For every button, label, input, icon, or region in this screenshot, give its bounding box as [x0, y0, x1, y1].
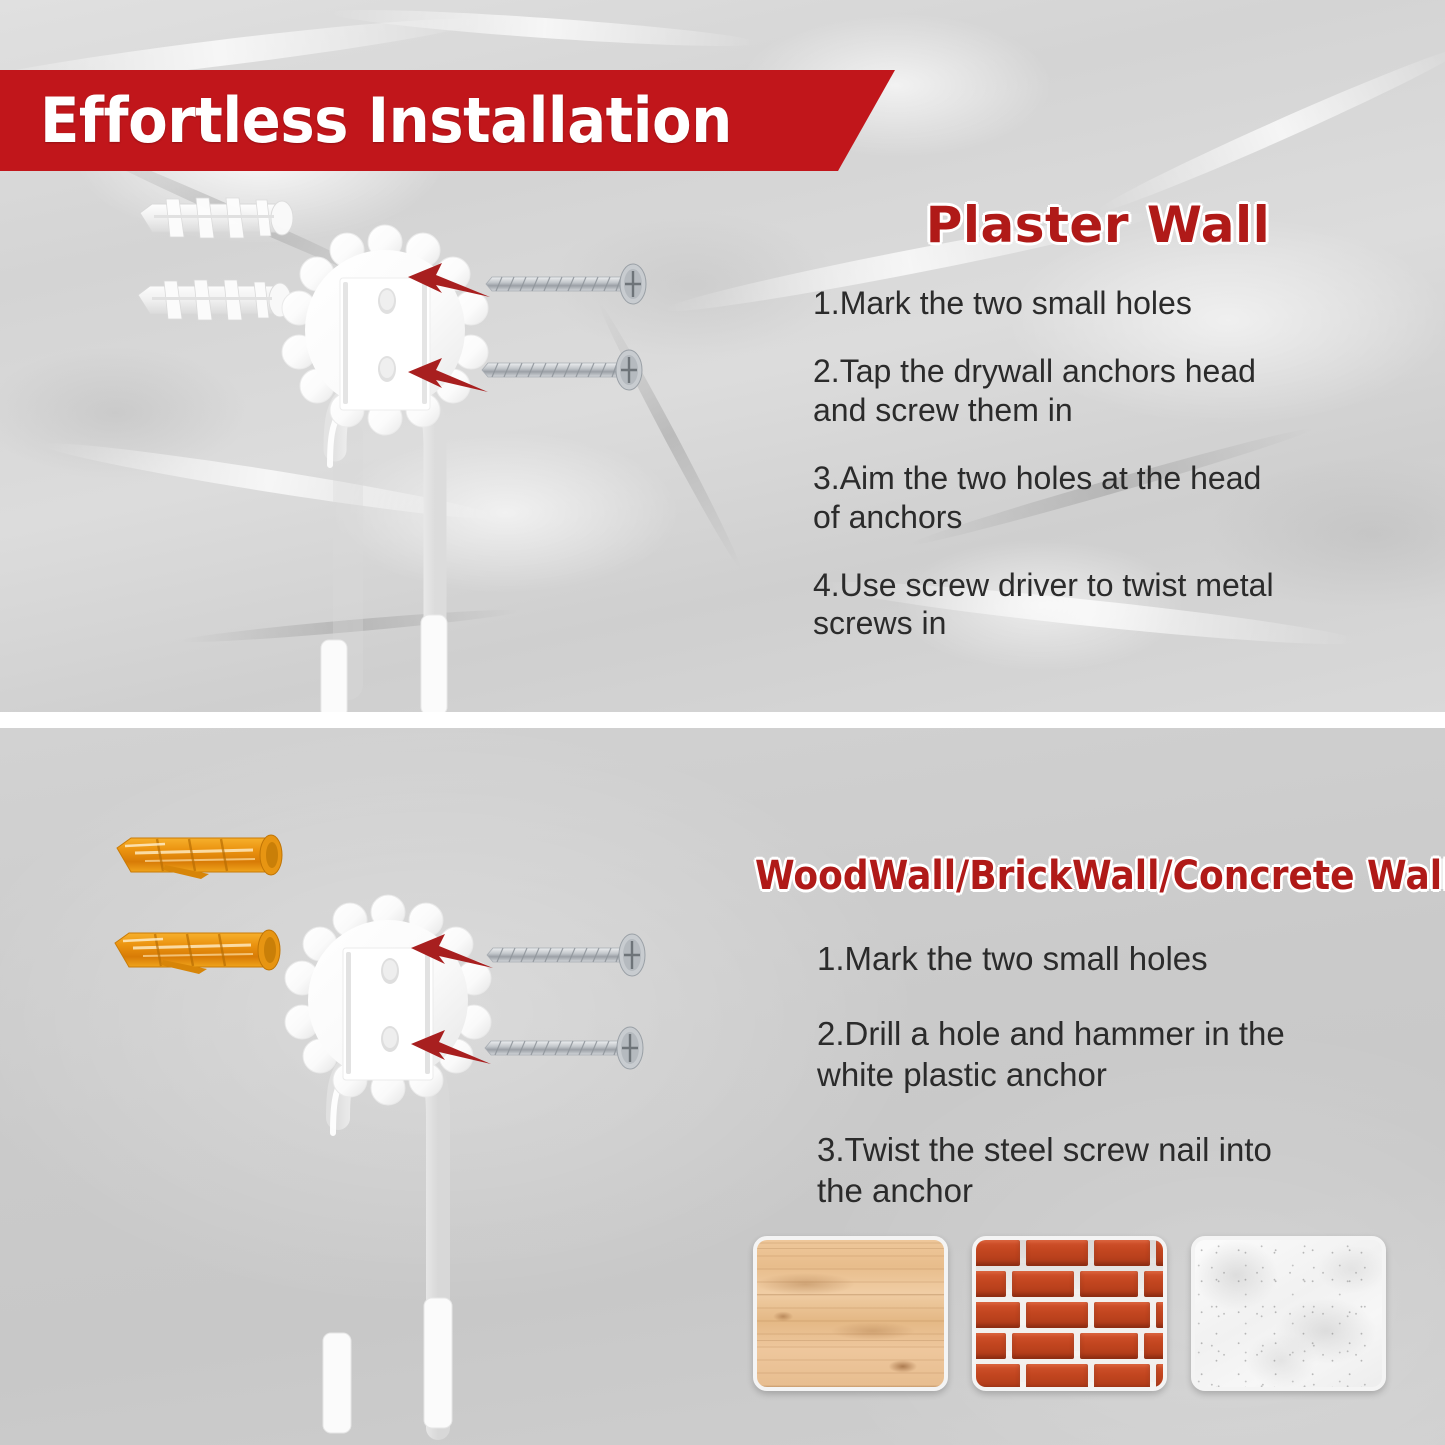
banner-title: Effortless Installation	[40, 84, 732, 157]
plaster-wall-heading: Plaster Wall	[813, 196, 1423, 254]
masonry-step-1: 1.Mark the two small holes	[817, 939, 1415, 980]
masonry-wall-heading: WoodWall/BrickWall/Concrete Wall	[755, 853, 1349, 899]
masonry-step-3-line1: 3.Twist the steel screw nail into	[817, 1130, 1415, 1171]
plaster-step-2-line2: and screw them in	[813, 391, 1423, 429]
orange-anchor-upper	[117, 835, 282, 879]
plaster-step-3-line1: 3.Aim the two holes at the head	[813, 459, 1423, 497]
plaster-text-column: Plaster Wall 1.Mark the two small holes …	[813, 196, 1423, 643]
brick-row	[976, 1271, 1163, 1297]
orange-anchor-lower	[115, 930, 280, 974]
panel-wood-brick-concrete: WoodWall/BrickWall/Concrete Wall 1.Mark …	[0, 728, 1445, 1445]
swatch-wood	[753, 1236, 948, 1391]
hook-body	[323, 1058, 452, 1433]
panel-plaster-wall: Plaster Wall 1.Mark the two small holes …	[0, 0, 1445, 712]
metal-screw-lower	[482, 350, 642, 390]
material-swatches	[753, 1236, 1386, 1391]
plaster-hardware-illustration	[130, 185, 670, 712]
drywall-anchor-upper	[140, 198, 293, 238]
masonry-step-3-line2: the anchor	[817, 1171, 1415, 1212]
brick-row	[976, 1302, 1163, 1328]
hook-mounting-plate	[282, 225, 488, 435]
hardware-diagram-top	[130, 185, 670, 712]
plaster-step-4-line1: 4.Use screw driver to twist metal	[813, 566, 1423, 604]
plaster-step-4-line2: screws in	[813, 604, 1423, 642]
brick-row	[976, 1364, 1163, 1390]
header-banner: Effortless Installation	[0, 70, 895, 171]
plaster-step-1: 1.Mark the two small holes	[813, 284, 1423, 322]
plaster-step-2-line1: 2.Tap the drywall anchors head	[813, 352, 1423, 390]
hook-body	[321, 390, 447, 712]
masonry-step-2-line2: white plastic anchor	[817, 1055, 1415, 1096]
drywall-anchor-lower	[138, 280, 291, 320]
swatch-brick	[972, 1236, 1167, 1391]
plaster-step-3-line2: of anchors	[813, 498, 1423, 536]
metal-screw-lower	[485, 1027, 643, 1069]
hardware-diagram-bottom	[105, 828, 665, 1445]
masonry-text-column: WoodWall/BrickWall/Concrete Wall 1.Mark …	[755, 853, 1415, 1212]
swatch-concrete	[1191, 1236, 1386, 1391]
metal-screw-upper	[486, 264, 646, 304]
infographic-page: Plaster Wall 1.Mark the two small holes …	[0, 0, 1445, 1445]
brick-row	[976, 1240, 1163, 1266]
masonry-step-2-line1: 2.Drill a hole and hammer in the	[817, 1014, 1415, 1055]
brick-row	[976, 1333, 1163, 1359]
masonry-hardware-illustration	[105, 828, 665, 1445]
metal-screw-upper	[487, 934, 645, 976]
hook-mounting-plate	[285, 895, 491, 1105]
